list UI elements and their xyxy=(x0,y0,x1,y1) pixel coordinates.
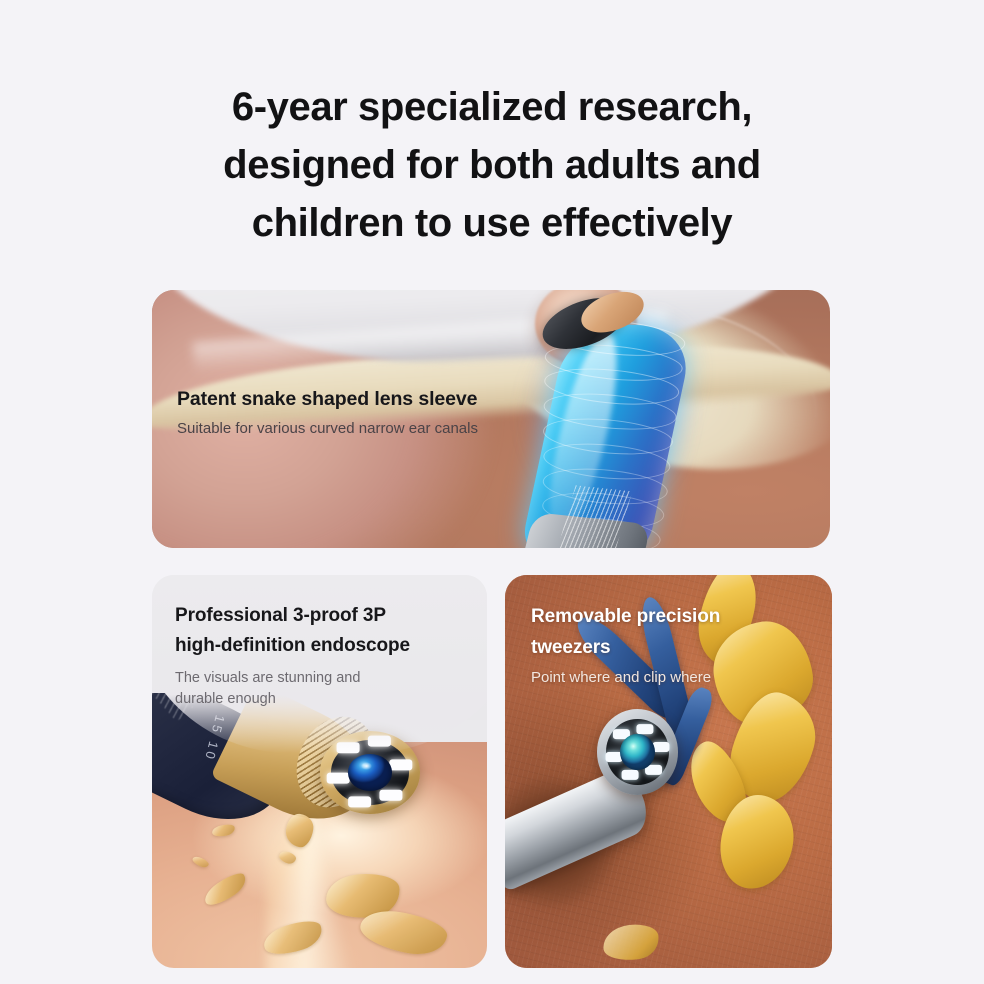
product-feature-page: 6-year specialized research, designed fo… xyxy=(0,0,984,984)
snake-lens-card-text: Patent snake shaped lens sleeve Suitable… xyxy=(177,386,478,441)
tweezer-camera-head xyxy=(597,709,679,795)
tweezers-card-subtitle: Point where and clip where xyxy=(531,667,818,689)
endoscope-illustration: 15 10 xyxy=(152,693,487,968)
snake-probe xyxy=(505,299,721,548)
tweezers-card-title-line-2: tweezers xyxy=(531,632,818,663)
endoscope-card-subtitle-line-1: The visuals are stunning and xyxy=(175,668,473,689)
led-segment xyxy=(390,759,413,770)
led-segment xyxy=(327,773,350,784)
tweezers-card-title-line-1: Removable precision xyxy=(531,601,818,632)
snake-lens-card-title: Patent snake shaped lens sleeve xyxy=(177,386,478,412)
led-segment xyxy=(622,770,638,780)
feature-card-hd-endoscope[interactable]: 15 10 Professional 3-proof 3P high-defin… xyxy=(152,575,487,968)
endoscope-lens xyxy=(348,754,392,790)
headline-line-1: 6-year specialized research, xyxy=(0,78,984,136)
endoscope-card-title-line-1: Professional 3-proof 3P xyxy=(175,601,473,631)
snake-lens-card-subtitle: Suitable for various curved narrow ear c… xyxy=(177,417,478,441)
lens-specular-highlight xyxy=(361,762,372,770)
tweezer-lens xyxy=(620,734,654,770)
led-segment xyxy=(637,724,653,734)
feature-card-precision-tweezers[interactable]: Removable precision tweezers Point where… xyxy=(505,575,832,968)
endoscope-card-title-line-2: high-definition endoscope xyxy=(175,631,473,661)
feature-card-snake-lens-sleeve[interactable]: Patent snake shaped lens sleeve Suitable… xyxy=(152,290,830,548)
endoscope-card-text: Professional 3-proof 3P high-definition … xyxy=(175,601,473,710)
led-segment xyxy=(380,790,403,801)
page-headline: 6-year specialized research, designed fo… xyxy=(0,78,984,252)
headline-line-3: children to use effectively xyxy=(0,194,984,252)
endoscope-card-subtitle-line-2: durable enough xyxy=(175,689,473,710)
led-segment xyxy=(348,796,371,807)
tweezers-card-text: Removable precision tweezers Point where… xyxy=(531,601,818,689)
led-segment xyxy=(653,742,669,752)
headline-line-2: designed for both adults and xyxy=(0,136,984,194)
